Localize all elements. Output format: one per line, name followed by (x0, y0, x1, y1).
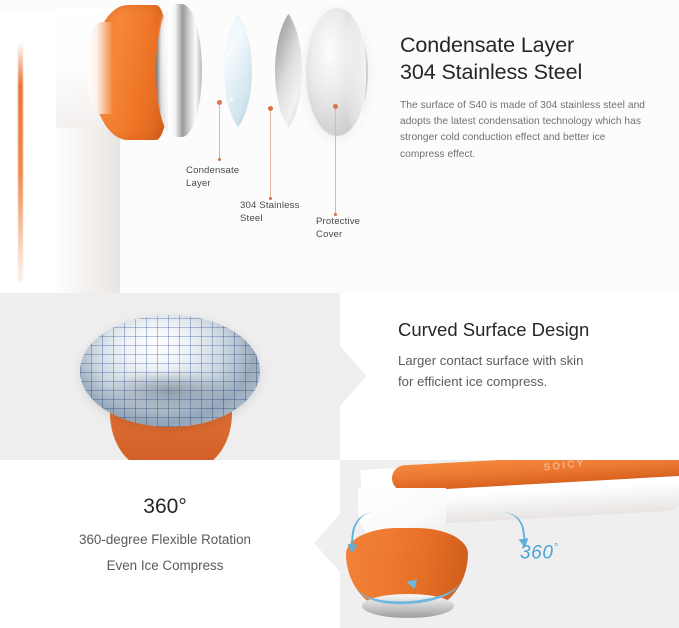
dome-chrome-surface (80, 315, 260, 427)
rotation-degree-value: 360 (520, 542, 554, 563)
leader-line-steel (270, 111, 271, 197)
cone-waist-shape (86, 22, 112, 114)
degree-symbol: ° (554, 542, 559, 554)
rotation-degree-label: 360° (520, 542, 559, 564)
callout-label-cover: Protective Cover (316, 216, 360, 241)
condensate-layer-crescent (196, 6, 252, 136)
leader-line-cover (335, 109, 336, 213)
rotation-arrow-left-icon (350, 510, 388, 553)
dome-reflection (106, 371, 232, 411)
panel-condensate-layer: Condensate Layer 304 Stainless Steel Pro… (0, 0, 679, 293)
handle-orange-stripe (18, 42, 23, 282)
product-infographic: Condensate Layer 304 Stainless Steel Pro… (0, 0, 679, 628)
leader-line-condensate (219, 105, 220, 158)
panel1-text-block: Condensate Layer 304 Stainless Steel The… (400, 32, 650, 163)
panel-360-rotation: 360° 360-degree Flexible Rotation Even I… (0, 460, 679, 628)
handle-highlight (28, 30, 42, 280)
panel-curved-surface: Curved Surface Design Larger contact sur… (0, 293, 679, 460)
leader-tip-condensate (218, 158, 221, 161)
panel2-heading: Curved Surface Design (398, 318, 668, 342)
panel1-heading: Condensate Layer 304 Stainless Steel (400, 32, 650, 85)
callout-label-steel: 304 Stainless Steel (240, 200, 300, 225)
protective-cover-ellipse (306, 8, 368, 136)
stainless-steel-crescent (248, 5, 302, 137)
panel3-text-block: 360° 360-degree Flexible Rotation Even I… (10, 493, 320, 579)
exploded-view-illustration: Condensate Layer 304 Stainless Steel Pro… (0, 0, 395, 293)
panel2-text-block: Curved Surface Design Larger contact sur… (398, 318, 668, 392)
curved-dome-illustration (62, 301, 277, 461)
panel3-heading: 360° (10, 493, 320, 521)
rotation-illustration: SOICY 360° (340, 460, 679, 628)
callout-label-condensate: Condensate Layer (186, 165, 239, 190)
panel2-body: Larger contact surface with skin for eff… (398, 350, 668, 392)
chevron-right-icon (340, 346, 366, 406)
panel3-body: 360-degree Flexible Rotation Even Ice Co… (10, 527, 320, 579)
panel1-body: The surface of S40 is made of 304 stainl… (400, 98, 650, 163)
chrome-dome-layer (156, 4, 202, 137)
brand-logo: SOICY (543, 460, 586, 474)
